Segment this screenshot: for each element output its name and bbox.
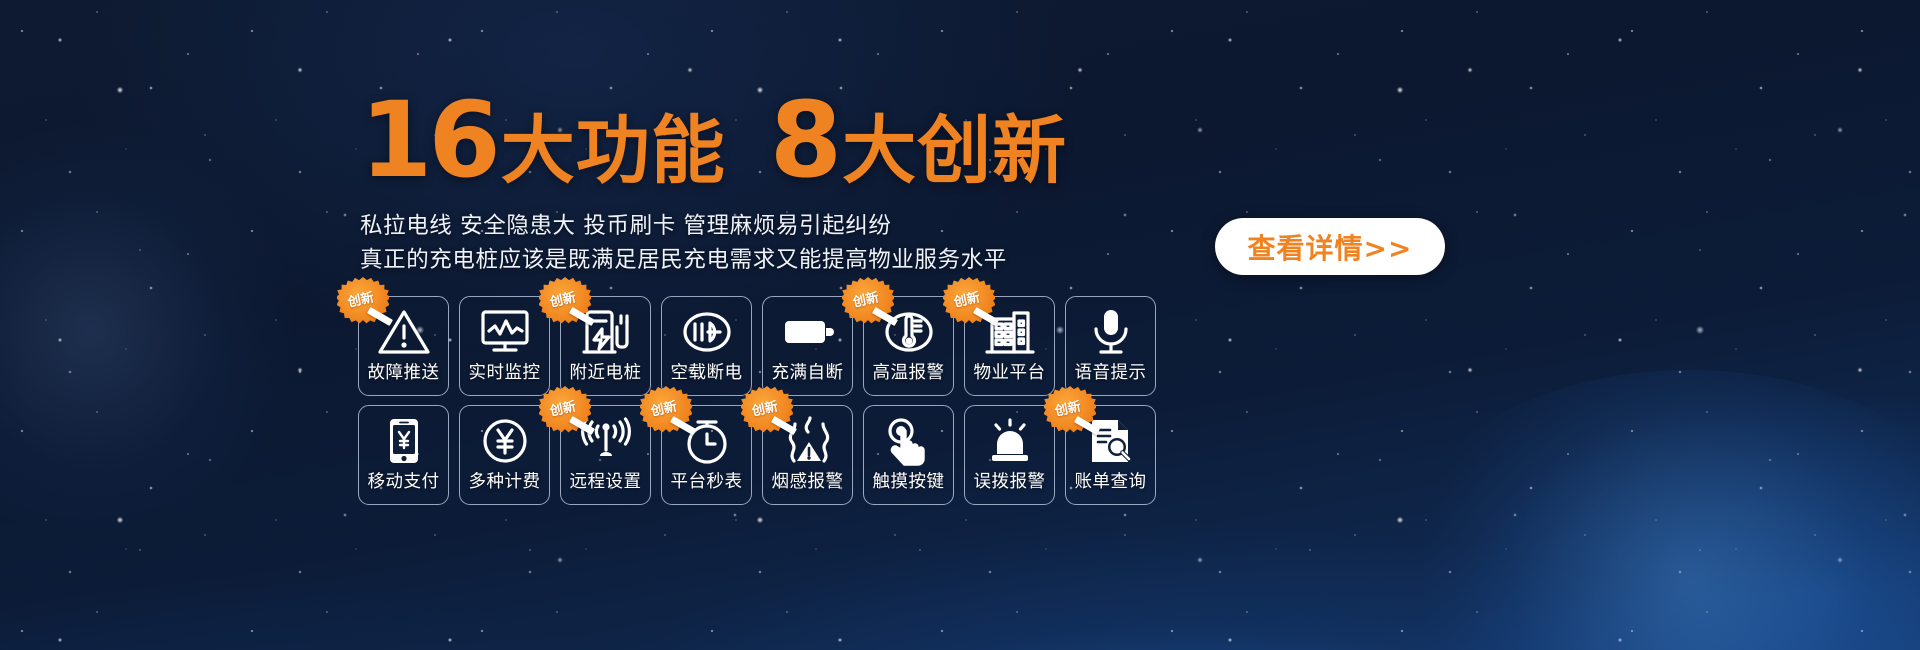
feature-card-误拨报警[interactable]: 误拨报警 bbox=[964, 405, 1055, 505]
siren-icon bbox=[965, 412, 1054, 470]
feature-card-账单查询[interactable]: 创新账单查询 bbox=[1065, 405, 1156, 505]
feature-card-充满自断[interactable]: 充满自断 bbox=[762, 296, 853, 396]
feature-card-label: 空载断电 bbox=[671, 365, 743, 383]
feature-card-label: 故障推送 bbox=[368, 365, 440, 383]
feature-card-label: 实时监控 bbox=[469, 365, 541, 383]
feature-card-语音提示[interactable]: 语音提示 bbox=[1065, 296, 1156, 396]
feature-card-触摸按键[interactable]: 触摸按键 bbox=[863, 405, 954, 505]
subtitle-line-2: 真正的充电桩应该是既满足居民充电需求又能提高物业服务水平 bbox=[360, 242, 1007, 274]
feature-card-label: 平台秒表 bbox=[671, 474, 743, 492]
headline-number-functions: 16 bbox=[360, 88, 497, 192]
feature-card-label: 移动支付 bbox=[368, 474, 440, 492]
battery-full-icon bbox=[763, 303, 852, 361]
feature-card-移动支付[interactable]: 移动支付 bbox=[358, 405, 449, 505]
subtitle-line-1: 私拉电线 安全隐患大 投币刷卡 管理麻烦易引起纠纷 bbox=[360, 208, 891, 240]
feature-card-实时监控[interactable]: 实时监控 bbox=[459, 296, 550, 396]
feature-card-故障推送[interactable]: 创新故障推送 bbox=[358, 296, 449, 396]
feature-card-平台秒表[interactable]: 创新平台秒表 bbox=[661, 405, 752, 505]
feature-card-附近电桩[interactable]: 创新附近电桩 bbox=[560, 296, 651, 396]
feature-card-label: 误拨报警 bbox=[974, 474, 1046, 492]
feature-card-远程设置[interactable]: 创新远程设置 bbox=[560, 405, 651, 505]
monitor-waveform-icon bbox=[460, 303, 549, 361]
innovation-badge: 创新 bbox=[337, 277, 389, 329]
feature-card-label: 烟感报警 bbox=[772, 474, 844, 492]
feature-card-label: 充满自断 bbox=[772, 365, 844, 383]
yuan-circle-icon bbox=[460, 412, 549, 470]
feature-card-label: 多种计费 bbox=[469, 474, 541, 492]
headline-text-innovations: 大创新 bbox=[842, 114, 1067, 188]
feature-card-label: 高温报警 bbox=[873, 365, 945, 383]
mobile-payment-icon bbox=[359, 412, 448, 470]
headline-text-functions: 大功能 bbox=[501, 114, 726, 188]
feature-card-高温报警[interactable]: 创新高温报警 bbox=[863, 296, 954, 396]
touch-hand-icon bbox=[864, 412, 953, 470]
feature-card-烟感报警[interactable]: 创新烟感报警 bbox=[762, 405, 853, 505]
innovation-badge: 创新 bbox=[842, 277, 894, 329]
innovation-badge: 创新 bbox=[539, 386, 591, 438]
innovation-badge: 创新 bbox=[943, 277, 995, 329]
plug-disconnect-icon bbox=[662, 303, 751, 361]
view-details-button[interactable]: 查看详情>> bbox=[1215, 218, 1445, 275]
innovation-badge: 创新 bbox=[640, 386, 692, 438]
feature-card-label: 远程设置 bbox=[570, 474, 642, 492]
feature-card-label: 触摸按键 bbox=[873, 474, 945, 492]
innovation-badge: 创新 bbox=[741, 386, 793, 438]
hero-banner: 16 大功能 8 大创新 私拉电线 安全隐患大 投币刷卡 管理麻烦易引起纠纷 真… bbox=[0, 0, 1920, 650]
feature-card-label: 语音提示 bbox=[1075, 365, 1147, 383]
feature-card-空载断电[interactable]: 空载断电 bbox=[661, 296, 752, 396]
feature-card-物业平台[interactable]: 创新物业平台 bbox=[964, 296, 1055, 396]
feature-card-grid: 创新故障推送实时监控创新附近电桩空载断电充满自断创新高温报警创新物业平台语音提示… bbox=[358, 296, 1166, 506]
headline-number-innovations: 8 bbox=[770, 88, 838, 192]
background-glow-left bbox=[0, 120, 300, 540]
innovation-badge: 创新 bbox=[539, 277, 591, 329]
feature-card-label: 物业平台 bbox=[974, 365, 1046, 383]
feature-card-多种计费[interactable]: 多种计费 bbox=[459, 405, 550, 505]
headline: 16 大功能 8 大创新 bbox=[360, 88, 1067, 192]
innovation-badge: 创新 bbox=[1044, 386, 1096, 438]
feature-card-label: 账单查询 bbox=[1075, 474, 1147, 492]
background-glow-right bbox=[1380, 370, 1920, 650]
microphone-icon bbox=[1066, 303, 1155, 361]
feature-card-label: 附近电桩 bbox=[570, 365, 642, 383]
